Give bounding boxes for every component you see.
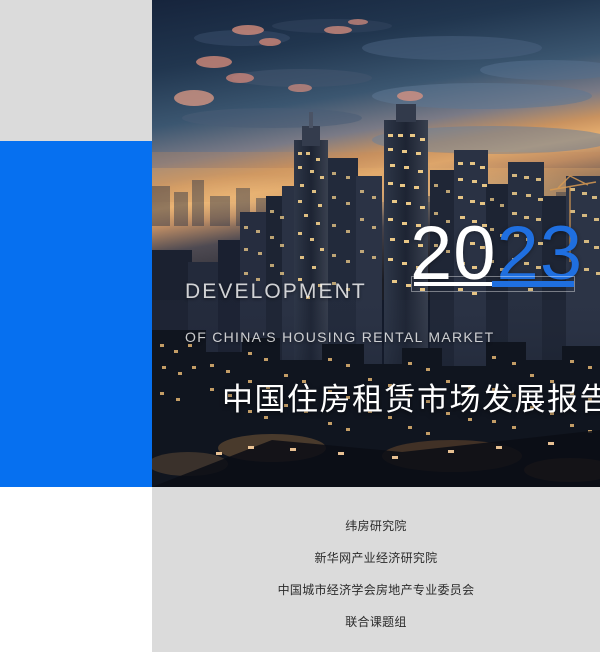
report-cover-page: 2023 DEVELOPMENT OF CHINA'S HOUSING RENT… [0, 0, 600, 652]
credit-line: 纬房研究院 [152, 520, 600, 532]
top-left-gray-band [0, 0, 152, 141]
credit-line: 新华网产业经济研究院 [152, 552, 600, 564]
credit-line: 中国城市经济学会房地产专业委员会 [152, 584, 600, 596]
year-divider-rule [411, 276, 575, 292]
english-subtitle: OF CHINA'S HOUSING RENTAL MARKET [185, 329, 495, 345]
report-main-title: 中国住房租赁市场发展报告 [222, 374, 600, 419]
divider-segment-blue [492, 281, 574, 287]
publisher-credits: 纬房研究院 新华网产业经济研究院 中国城市经济学会房地产专业委员会 联合课题组 [152, 520, 600, 628]
credit-line: 联合课题组 [152, 616, 600, 628]
divider-segment-white [414, 282, 492, 286]
bottom-white-band [0, 487, 152, 652]
english-eyebrow-heading: DEVELOPMENT [185, 280, 367, 304]
blue-accent-block [0, 141, 152, 487]
